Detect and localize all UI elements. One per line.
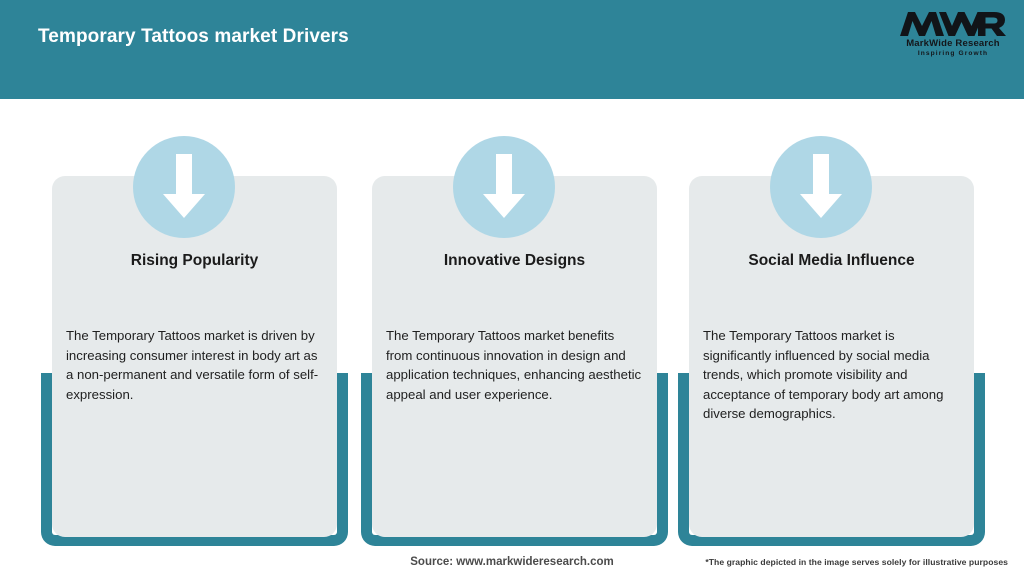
card-badge	[770, 136, 872, 238]
driver-card-1[interactable]: Rising Popularity The Temporary Tattoos …	[41, 99, 348, 547]
logo-tagline: Inspiring Growth	[898, 49, 1008, 58]
mwr-logo-icon	[898, 9, 1008, 39]
brand-logo: MarkWide Research Inspiring Growth	[898, 9, 1008, 61]
card-body-text: The Temporary Tattoos market is signific…	[703, 326, 961, 424]
card-badge	[133, 136, 235, 238]
card-body-text: The Temporary Tattoos market is driven b…	[66, 326, 324, 404]
card-title: Innovative Designs	[372, 252, 657, 270]
arrow-down-icon	[161, 154, 207, 220]
card-title: Rising Popularity	[52, 252, 337, 270]
arrow-down-icon	[481, 154, 527, 220]
card-title: Social Media Influence	[689, 252, 974, 270]
page-title: Temporary Tattoos market Drivers	[38, 26, 349, 48]
driver-card-2[interactable]: Innovative Designs The Temporary Tattoos…	[361, 99, 668, 547]
card-badge	[453, 136, 555, 238]
drivers-card-row: Rising Popularity The Temporary Tattoos …	[0, 99, 1024, 547]
logo-company-name: MarkWide Research	[898, 38, 1008, 49]
arrow-down-icon	[798, 154, 844, 220]
disclaimer-note: *The graphic depicted in the image serve…	[705, 557, 1008, 567]
card-body-text: The Temporary Tattoos market benefits fr…	[386, 326, 644, 404]
driver-card-3[interactable]: Social Media Influence The Temporary Tat…	[678, 99, 985, 547]
header-bar: Temporary Tattoos market Drivers MarkWid…	[0, 0, 1024, 99]
